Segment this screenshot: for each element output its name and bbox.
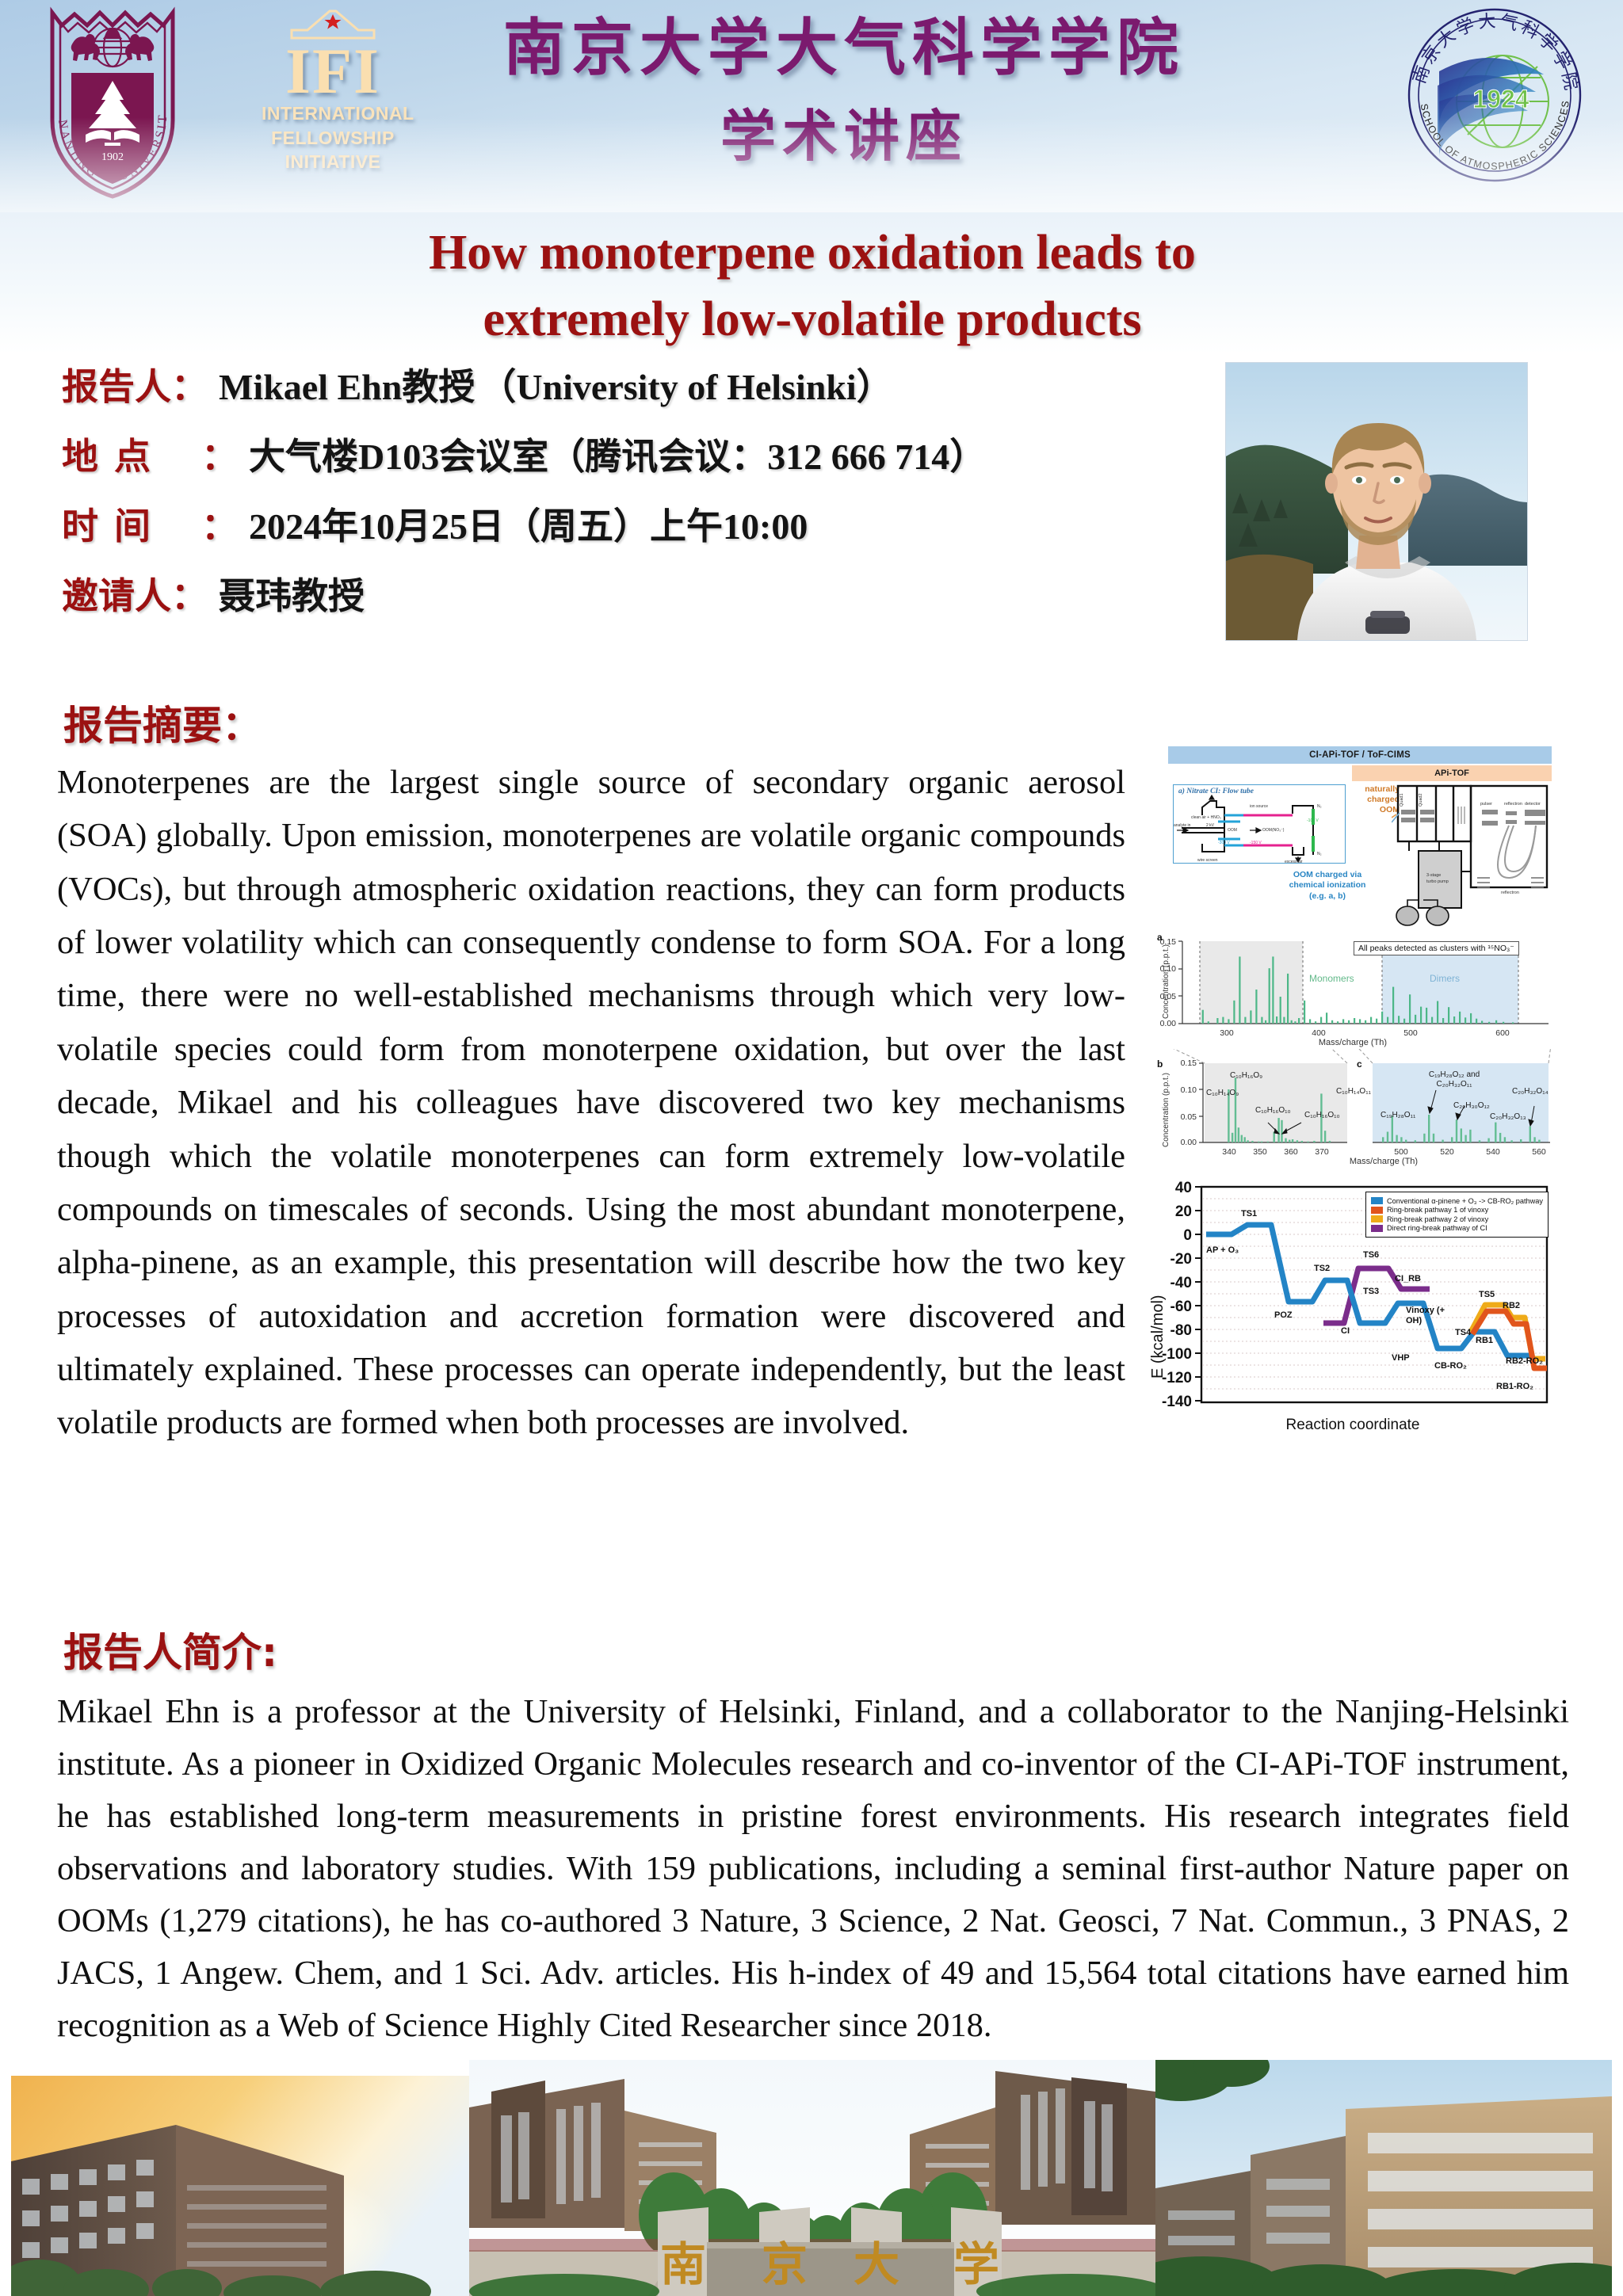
energy-legend: Conventional α-pinene + O₃ -> CB-RO₂ pat… (1365, 1192, 1549, 1238)
detail-colon-location: ： (201, 428, 238, 480)
svg-text:-100 V: -100 V (1307, 818, 1319, 823)
detail-colon-speaker: ： (171, 358, 208, 410)
ms-b-peak-label-2: C₁₀H₁₆O₉ (1230, 1071, 1262, 1081)
monument-char-1: 南 (660, 2237, 706, 2291)
ms-a-ylabel: Concentration (p.p.t.) (1162, 944, 1170, 1019)
figure-energy-diagram: E (kcal/mol) (1154, 1180, 1552, 1432)
energy-label-ts1: TS1 (1241, 1209, 1257, 1219)
svg-text:detector: detector (1525, 802, 1541, 807)
svg-text:pulser: pulser (1480, 802, 1492, 807)
legend-swatch-1 (1371, 1207, 1383, 1214)
ms-b-peak-label-5: C₁₀H₁₄O₁₁ (1336, 1087, 1371, 1097)
energy-label-rb2-ro2: RB2-RO₂ (1506, 1356, 1543, 1366)
ms-b-peak-label-3: C₁₀H₁₆O₁₀ (1255, 1106, 1291, 1116)
energy-ylabel: E (kcal/mol) (1149, 1295, 1167, 1379)
svg-text:ion source: ion source (1250, 804, 1268, 809)
detail-value-host: 聂玮教授 (219, 567, 365, 620)
ms-c-peak-label-1: C₁₉H₂₈O₁₁ (1381, 1111, 1415, 1120)
ms-a-region-label-monomers: Monomers (1309, 973, 1354, 984)
svg-text:500: 500 (1403, 1028, 1418, 1038)
legend-item-0: Conventional α-pinene + O₃ -> CB-RO₂ pat… (1371, 1197, 1543, 1205)
monument-char-2: 京 (762, 2237, 808, 2291)
talk-title-line2: extremely low-volatile products (262, 287, 1363, 353)
energy-label-ts3: TS3 (1363, 1287, 1379, 1296)
energy-label-ts6: TS6 (1363, 1250, 1379, 1260)
ms-a-region-label-dimers: Dimers (1430, 973, 1460, 984)
speaker-photo (1226, 363, 1527, 640)
svg-text:0.00: 0.00 (1160, 1019, 1177, 1028)
ms-bc-xlabel: Mass/charge (Th) (1296, 1157, 1471, 1166)
figure-instrument-schematic: CI-APi-TOF / ToF-CIMS APi-TOF a) Nitrate… (1154, 743, 1552, 930)
svg-text:Quad2: Quad2 (1419, 793, 1423, 807)
detail-value-speaker-affiliation: （University of Helsinki） (479, 358, 892, 410)
svg-text:370: 370 (1315, 1147, 1329, 1157)
footer-photo-1 (11, 2076, 469, 2296)
svg-text:3-stage: 3-stage (1426, 873, 1441, 878)
energy-label-rb1-ro2: RB1-RO₂ (1496, 1382, 1533, 1391)
legend-label-1: Ring-break pathway 1 of vinoxy (1387, 1206, 1488, 1214)
detail-row-speaker: 报告人 ： Mikael Ehn 教授 （University of Helsi… (62, 358, 1203, 410)
svg-text:N₂: N₂ (1317, 804, 1322, 809)
detail-colon-time: ： (201, 498, 238, 550)
detail-value-time: 2024年10月25日（周五）上午10:00 (249, 498, 808, 550)
svg-text:wire screen: wire screen (1197, 858, 1218, 863)
ms-c-peak-label-5: C₂₀H₃₂O₁₄ (1512, 1087, 1549, 1097)
flow-tube-inset: a) Nitrate CI: Flow tube (1173, 784, 1346, 864)
page-title: How monoterpene oxidation leads to extre… (262, 220, 1363, 353)
legend-item-1: Ring-break pathway 1 of vinoxy (1371, 1206, 1543, 1214)
svg-text:OOM: OOM (1228, 828, 1237, 833)
detail-label-host: 邀请人 (62, 567, 171, 620)
abstract-section: 报告摘要： Monoterpenes are the largest singl… (0, 694, 1623, 1621)
talk-title-band: How monoterpene oxidation leads to extre… (0, 212, 1623, 353)
svg-text:520: 520 (1440, 1147, 1454, 1157)
svg-text:340: 340 (1222, 1147, 1236, 1157)
ms-a-annotation: All peaks detected as clusters with ¹⁵NO… (1354, 941, 1519, 955)
energy-label-vhp: VHP (1392, 1353, 1410, 1363)
legend-label-0: Conventional α-pinene + O₃ -> CB-RO₂ pat… (1387, 1197, 1543, 1205)
energy-label-rb2: RB2 (1503, 1301, 1520, 1310)
svg-text:0.00: 0.00 (1181, 1138, 1197, 1147)
svg-text:clean air + HNO₃: clean air + HNO₃ (1191, 815, 1221, 820)
detail-colon-host: ： (171, 567, 208, 620)
svg-text:2 kV: 2 kV (1206, 823, 1215, 828)
ms-c-peak-label-4: C₂₀H₃₂O₁₃ (1490, 1112, 1526, 1122)
monument-char-3: 大 (854, 2237, 899, 2291)
svg-text:-40: -40 (1170, 1275, 1192, 1291)
detail-row-time: 时间 ： 2024年10月25日（周五）上午10:00 (62, 498, 1203, 550)
svg-text:-300 V: -300 V (1218, 841, 1230, 845)
ms-c-peak-label-2: C₁₉H₂₈O₁₂ and C₂₀H₃₂O₁₁ (1422, 1070, 1487, 1089)
figure-mass-spectrum-overview: a Concentration (p.p.t.) 0.000.05 0.10 (1154, 930, 1552, 1049)
bio-text: Mikael Ehn is a professor at the Univers… (57, 1686, 1569, 2053)
legend-label-2: Ring-break pathway 2 of vinoxy (1387, 1215, 1488, 1223)
abstract-text: Monoterpenes are the largest single sour… (57, 756, 1125, 1450)
energy-label-poz: POZ (1274, 1310, 1293, 1320)
legend-swatch-2 (1371, 1215, 1383, 1222)
legend-item-2: Ring-break pathway 2 of vinoxy (1371, 1215, 1543, 1223)
instrument-title-api-tof: APi-TOF (1352, 765, 1552, 781)
svg-text:350: 350 (1253, 1147, 1267, 1157)
svg-text:reflectron: reflectron (1501, 891, 1519, 895)
svg-text:360: 360 (1284, 1147, 1298, 1157)
svg-text:0.10: 0.10 (1181, 1085, 1197, 1095)
chemical-ionization-note: OOM charged via chemical ionization (e.g… (1281, 870, 1374, 902)
energy-label-vinoxy: Vinoxy (+ OH) (1406, 1306, 1457, 1326)
ms-c-peak-label-3: C₂₀H₃₀O₁₂ (1453, 1101, 1490, 1111)
energy-label-ts4: TS4 (1455, 1328, 1471, 1337)
svg-text:0: 0 (1183, 1227, 1192, 1244)
ms-b-peak-label-1: C₁₀H₁₄O₉ (1206, 1089, 1239, 1098)
energy-label-ts5: TS5 (1479, 1290, 1495, 1299)
energy-label-rb1: RB1 (1476, 1336, 1493, 1345)
ifi-line-3: INITIATIVE (262, 150, 404, 174)
svg-text:300: 300 (1220, 1028, 1234, 1038)
svg-text:600: 600 (1495, 1028, 1510, 1038)
svg-text:turbo pump: turbo pump (1426, 879, 1449, 884)
energy-label-ci-rb: CI_RB (1395, 1274, 1421, 1283)
abstract-heading: 报告摘要： (63, 694, 262, 751)
figure-column: CI-APi-TOF / ToF-CIMS APi-TOF a) Nitrate… (1154, 743, 1552, 1432)
footer-photo-2: 南 京 大 学 (469, 2060, 1155, 2296)
panel-letter-b: b (1157, 1058, 1163, 1070)
detail-row-location: 地点 ： 大气楼D103会议室（腾讯会议：312 666 714） (62, 428, 1203, 480)
svg-text:-80: -80 (1170, 1322, 1192, 1339)
detail-label-speaker: 报告人 (62, 358, 171, 410)
detail-value-speaker-name: Mikael Ehn (219, 366, 402, 408)
panel-letter-c: c (1357, 1058, 1362, 1070)
detail-row-host: 邀请人 ： 聂玮教授 (62, 567, 1203, 620)
svg-text:N₂: N₂ (1317, 852, 1322, 856)
organization-title-line1: 南京大学大气科学学院 (372, 14, 1316, 83)
bio-heading: 报告人简介: (63, 1621, 277, 1678)
svg-text:-150 V: -150 V (1250, 841, 1262, 845)
ifi-line-2: FELLOWSHIP (262, 126, 404, 150)
svg-text:40: 40 (1175, 1180, 1192, 1196)
detail-value-speaker-title: 教授 (402, 358, 475, 410)
legend-swatch-0 (1371, 1197, 1383, 1204)
instrument-title-ci-api-tof: CI-APi-TOF / ToF-CIMS (1168, 746, 1552, 764)
event-details: 报告人 ： Mikael Ehn 教授 （University of Helsi… (0, 353, 1623, 694)
energy-xlabel: Reaction coordinate (1154, 1417, 1552, 1434)
footer-photo-strip: 南 京 大 学 (0, 2076, 1623, 2296)
detail-value-location: 大气楼D103会议室（腾讯会议：312 666 714） (249, 428, 986, 480)
svg-text:reflectron: reflectron (1504, 802, 1522, 807)
svg-text:400: 400 (1312, 1028, 1326, 1038)
svg-text:excess air: excess air (1285, 860, 1303, 864)
detail-label-time: 时间 (62, 498, 201, 550)
legend-swatch-3 (1371, 1225, 1383, 1232)
svg-text:0.05: 0.05 (1181, 1112, 1197, 1122)
svg-text:analyte in: analyte in (1174, 823, 1191, 828)
bio-section: 报告人简介: Mikael Ehn is a professor at the … (0, 1621, 1623, 2001)
talk-title-line1: How monoterpene oxidation leads to (262, 220, 1363, 287)
svg-text:560: 560 (1532, 1147, 1546, 1157)
nju-logo-year: 1902 (101, 151, 124, 163)
svg-text:20: 20 (1175, 1203, 1192, 1220)
energy-label-ts2: TS2 (1314, 1264, 1330, 1273)
panel-letter-a: a (1157, 932, 1163, 943)
ms-a-xlabel: Mass/charge (Th) (1154, 1038, 1552, 1047)
figure-mass-spectrum-zoom: b c Concentration (p.p.t.) 0.000.05 0.10… (1154, 1049, 1552, 1176)
ms-b-peak-label-4: C₁₀H₁₆O₁₀ (1304, 1111, 1340, 1120)
svg-text:OOM(NO₃⁻): OOM(NO₃⁻) (1262, 828, 1285, 833)
svg-text:-60: -60 (1170, 1299, 1192, 1315)
svg-text:Quad1: Quad1 (1400, 793, 1404, 807)
school-of-atmospheric-sciences-logo-icon: 南京大学大气科学学院 SCHOOL OF ATMOSPHERIC SCIENCE… (1403, 3, 1587, 187)
ms-b-ylabel: Concentration (p.p.t.) (1162, 1073, 1170, 1147)
detail-label-location: 地点 (62, 428, 201, 480)
legend-label-3: Direct ring-break pathway of CI (1387, 1224, 1487, 1232)
page-header: 1902 NANJING UNIVERSITY IFI INTERNATIONA… (0, 0, 1623, 212)
energy-label-ap-o3: AP + O₃ (1206, 1245, 1239, 1255)
energy-label-cb-ro2: CB-RO₂ (1434, 1361, 1467, 1371)
organization-title: 南京大学大气科学学院 学术讲座 (372, 14, 1316, 173)
flow-tube-diagram-icon: clean air + HNO₃ analyte in 2 kV OOM OOM… (1174, 795, 1346, 864)
sas-logo-year: 1924 (1472, 85, 1529, 113)
energy-label-ci: CI (1341, 1326, 1350, 1336)
svg-text:-20: -20 (1170, 1251, 1192, 1268)
svg-text:500: 500 (1394, 1147, 1408, 1157)
svg-text:540: 540 (1486, 1147, 1500, 1157)
svg-text:NANJING: NANJING (55, 119, 101, 181)
footer-photo-3 (1155, 2060, 1612, 2296)
nanjing-university-logo-icon: 1902 NANJING UNIVERSITY (38, 2, 187, 201)
organization-title-line2: 学术讲座 (372, 101, 1316, 173)
api-tof-diagram-icon: Quad1 Quad2 pulser reflectron detector 3… (1392, 783, 1553, 930)
legend-item-3: Direct ring-break pathway of CI (1371, 1224, 1543, 1232)
svg-text:0.15: 0.15 (1181, 1058, 1197, 1068)
svg-text:-140: -140 (1162, 1394, 1192, 1410)
